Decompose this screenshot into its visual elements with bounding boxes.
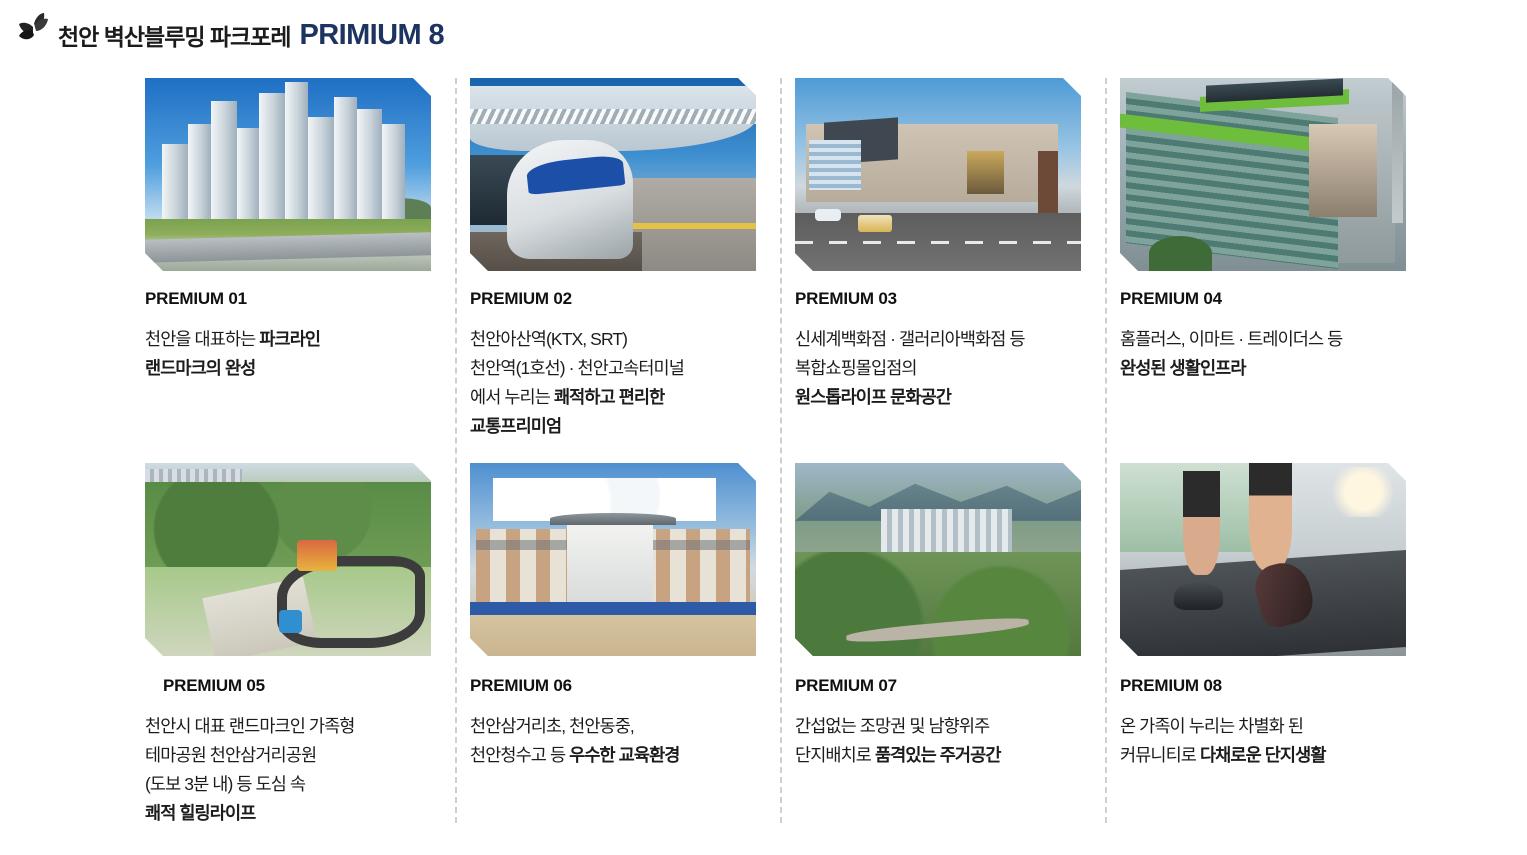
leaf-sprout-icon <box>12 11 56 55</box>
card-body-02: 천안아산역(KTX, SRT) 천안역(1호선) · 천안고속터미널 에서 누리… <box>470 325 795 441</box>
premium-card-06[interactable]: PREMIUM 06 천안삼거리초, 천안동중, 천안청수고 등 우수한 교육환… <box>470 463 795 770</box>
card-image-04 <box>1120 78 1406 271</box>
card-image-05 <box>145 463 431 656</box>
premium-card-04[interactable]: PREMIUM 04 홈플러스, 이마트 · 트레이더스 등 완성된 생활인프라 <box>1120 78 1445 383</box>
card-label-04: PREMIUM 04 <box>1120 289 1445 309</box>
card-image-06 <box>470 463 756 656</box>
card-label-02: PREMIUM 02 <box>470 289 795 309</box>
card-label-06: PREMIUM 06 <box>470 676 795 696</box>
premium-card-08[interactable]: PREMIUM 08 온 가족이 누리는 차별화 된 커뮤니티로 다채로운 단지… <box>1120 463 1445 770</box>
card-label-05: PREMIUM 05 <box>163 676 470 696</box>
card-label-01: PREMIUM 01 <box>145 289 470 309</box>
card-body-01: 천안을 대표하는 파크라인 랜드마크의 완성 <box>145 325 470 383</box>
card-label-03: PREMIUM 03 <box>795 289 1120 309</box>
page-title-kr: 천안 벽산블루밍 파크포레 <box>58 18 291 52</box>
card-body-06: 천안삼거리초, 천안동중, 천안청수고 등 우수한 교육환경 <box>470 712 795 770</box>
premium-card-02[interactable]: PREMIUM 02 천안아산역(KTX, SRT) 천안역(1호선) · 천안… <box>470 78 795 441</box>
page-title-en: PRIMIUM 8 <box>300 19 444 52</box>
card-body-05: 천안시 대표 랜드마크인 가족형 테마공원 천안삼거리공원 (도보 3분 내) … <box>145 712 470 828</box>
card-image-01 <box>145 78 431 271</box>
card-label-07: PREMIUM 07 <box>795 676 1120 696</box>
premium-card-01[interactable]: PREMIUM 01 천안을 대표하는 파크라인 랜드마크의 완성 <box>145 78 470 383</box>
card-image-02 <box>470 78 756 271</box>
card-body-03: 신세계백화점 · 갤러리아백화점 등 복합쇼핑몰입점의 원스톱라이프 문화공간 <box>795 325 1120 412</box>
card-image-07 <box>795 463 1081 656</box>
card-image-08 <box>1120 463 1406 656</box>
card-body-04: 홈플러스, 이마트 · 트레이더스 등 완성된 생활인프라 <box>1120 325 1445 383</box>
premium-grid: PREMIUM 01 천안을 대표하는 파크라인 랜드마크의 완성 PREMIU… <box>0 70 1527 855</box>
page-header: 천안 벽산블루밍 파크포레 PRIMIUM 8 <box>0 0 1527 70</box>
card-body-08: 온 가족이 누리는 차별화 된 커뮤니티로 다채로운 단지생활 <box>1120 712 1445 770</box>
card-body-07: 간섭없는 조망권 및 남향위주 단지배치로 품격있는 주거공간 <box>795 712 1120 770</box>
premium-card-03[interactable]: PREMIUM 03 신세계백화점 · 갤러리아백화점 등 복합쇼핑몰입점의 원… <box>795 78 1120 412</box>
premium-card-07[interactable]: PREMIUM 07 간섭없는 조망권 및 남향위주 단지배치로 품격있는 주거… <box>795 463 1120 770</box>
card-image-03 <box>795 78 1081 271</box>
card-label-08: PREMIUM 08 <box>1120 676 1445 696</box>
premium-card-05[interactable]: PREMIUM 05 천안시 대표 랜드마크인 가족형 테마공원 천안삼거리공원… <box>145 463 470 828</box>
